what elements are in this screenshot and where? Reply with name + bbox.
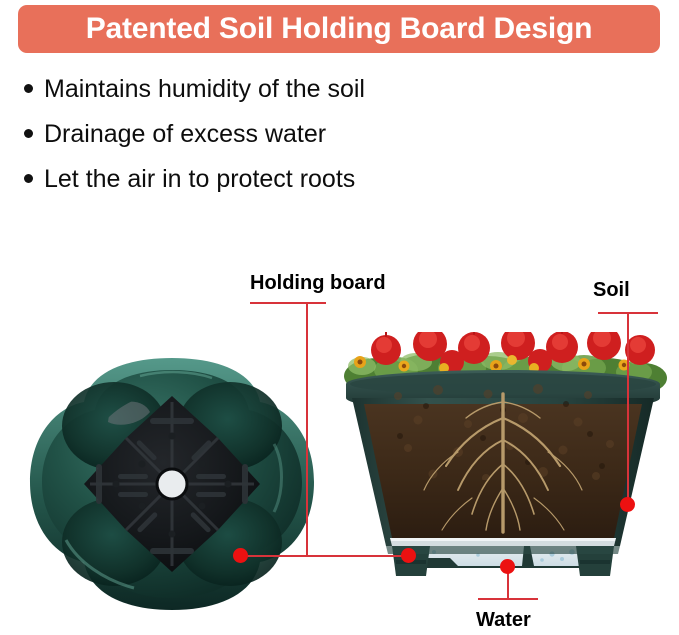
feature-text: Let the air in to protect roots (44, 160, 355, 198)
bullet-dot-icon (24, 84, 33, 93)
holding-board-illustration (22, 352, 322, 620)
marker-dot-soil (620, 497, 635, 512)
callout-label-holding-board: Holding board (250, 273, 386, 293)
marker-dot-water (500, 559, 515, 574)
planter-illustration (338, 332, 668, 584)
header-banner: Patented Soil Holding Board Design (18, 5, 660, 53)
promo-infographic: Patented Soil Holding Board Design Maint… (0, 0, 679, 635)
leader-line-holding-board-horizontal (240, 555, 408, 557)
list-item: Let the air in to protect roots (24, 160, 644, 205)
feature-list: Maintains humidity of the soil Drainage … (24, 70, 644, 205)
leader-line-holding-board-vertical (306, 302, 308, 556)
feature-text: Drainage of excess water (44, 115, 326, 153)
soil-holding-board-photo (22, 352, 322, 620)
marker-dot-holding-board-photo (233, 548, 248, 563)
callout-label-water: Water (476, 610, 531, 630)
bullet-dot-icon (24, 174, 33, 183)
list-item: Maintains humidity of the soil (24, 70, 644, 115)
feature-text: Maintains humidity of the soil (44, 70, 365, 108)
planter-cutaway-photo (338, 332, 668, 584)
bullet-dot-icon (24, 129, 33, 138)
page-title: Patented Soil Holding Board Design (86, 14, 593, 44)
leader-line-holding-board-tbar (250, 302, 326, 304)
soil-layer (364, 384, 642, 538)
callout-label-soil: Soil (593, 280, 630, 300)
list-item: Drainage of excess water (24, 115, 644, 160)
marker-dot-holding-board-planter (401, 548, 416, 563)
leader-line-soil-vertical (627, 312, 629, 504)
